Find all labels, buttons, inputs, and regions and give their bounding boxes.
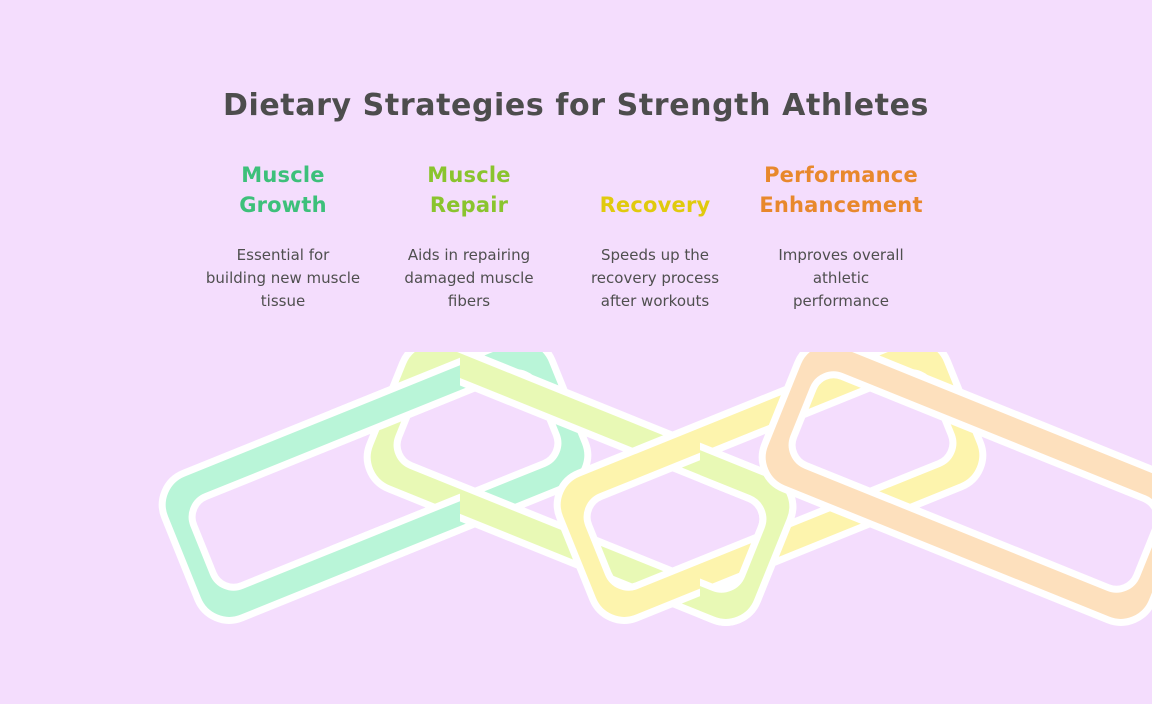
- column-heading-muscle-growth: Muscle Growth: [239, 158, 327, 220]
- columns-row: Muscle Growth Essential for building new…: [190, 158, 950, 313]
- column-description-muscle-repair: Aids in repairing damaged muscle fibers: [380, 244, 558, 313]
- column-heading-muscle-repair: Muscle Repair: [427, 158, 510, 220]
- column-description-muscle-growth: Essential for building new muscle tissue: [194, 244, 372, 313]
- column-muscle-growth: Muscle Growth Essential for building new…: [190, 158, 376, 313]
- column-performance-enhancement: Performance Enhancement Improves overall…: [748, 158, 934, 313]
- column-recovery: Recovery Speeds up the recovery process …: [562, 158, 748, 313]
- column-muscle-repair: Muscle Repair Aids in repairing damaged …: [376, 158, 562, 313]
- column-heading-performance-enhancement: Performance Enhancement: [759, 158, 922, 220]
- infographic-canvas: Dietary Strategies for Strength Athletes…: [0, 0, 1152, 704]
- chain-links-graphic: [0, 352, 1152, 672]
- page-title: Dietary Strategies for Strength Athletes: [0, 88, 1152, 123]
- column-heading-recovery: Recovery: [600, 158, 711, 220]
- column-description-performance-enhancement: Improves overall athletic performance: [752, 244, 930, 313]
- column-description-recovery: Speeds up the recovery process after wor…: [566, 244, 744, 313]
